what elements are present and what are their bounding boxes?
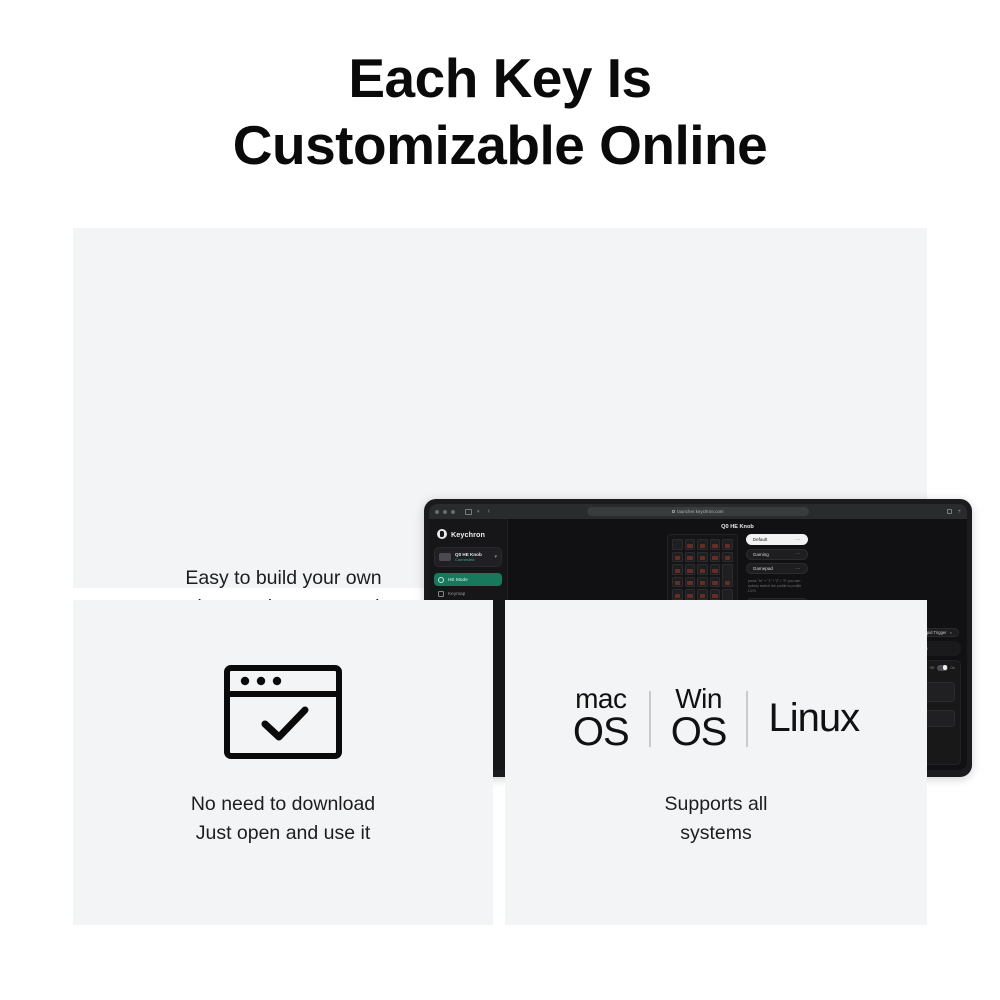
caption-line-1: Supports all [505, 790, 927, 818]
key[interactable] [697, 539, 708, 550]
key[interactable] [697, 577, 708, 588]
toggle-on-label: On [950, 666, 955, 670]
new-tab-icon[interactable]: + [957, 509, 961, 515]
key[interactable] [685, 539, 696, 550]
ellipsis-icon[interactable]: ⋯ [795, 537, 800, 543]
ellipsis-icon[interactable]: ⋯ [795, 551, 800, 557]
divider [649, 691, 651, 747]
key[interactable] [710, 589, 721, 600]
linux-text: Linux [768, 699, 859, 737]
key[interactable] [672, 564, 683, 575]
ellipsis-icon[interactable]: ⋯ [795, 566, 800, 572]
brand: Keychron [434, 527, 502, 547]
key[interactable] [685, 552, 696, 563]
key[interactable] [685, 577, 696, 588]
main-title: Q0 HE Knob [721, 524, 754, 530]
key[interactable] [697, 589, 708, 600]
test-keys-toggle[interactable]: Off On [929, 665, 955, 671]
linux-logo: Linux [768, 699, 859, 737]
close-dot[interactable] [435, 510, 439, 514]
winos-logo: Win OS [671, 686, 727, 751]
chevron-left-icon[interactable]: ‹ [488, 508, 490, 515]
no-download-caption: No need to download Just open and use it [73, 790, 493, 847]
headline-line-2: Customizable Online [0, 112, 1000, 179]
toggle-off-label: Off [929, 666, 934, 670]
key[interactable] [685, 564, 696, 575]
key[interactable] [722, 564, 733, 587]
caption-line-2: Just open and use it [73, 819, 493, 847]
toggle-switch[interactable] [937, 665, 948, 671]
close-icon[interactable]: × [950, 630, 952, 635]
profile-label: Default [753, 537, 768, 542]
marketing-page: Each Key Is Customizable Online Easy to … [0, 0, 1000, 1000]
key[interactable] [710, 564, 721, 575]
brand-name: Keychron [451, 530, 485, 539]
headline-line-1: Each Key Is [0, 45, 1000, 112]
url-text: launcher.keychron.com [677, 509, 723, 514]
chevron-down-icon[interactable]: ▾ [477, 509, 480, 515]
sidebar-item-label: Keymap [448, 591, 465, 596]
os-logo-row: mac OS Win OS Linux [505, 686, 927, 751]
macos-top-text: mac [575, 686, 626, 713]
os-support-caption: Supports all systems [505, 790, 927, 847]
key[interactable] [672, 539, 683, 550]
profile-default-button[interactable]: Default ⋯ [746, 534, 808, 545]
keychron-logo-icon [437, 529, 447, 539]
sidebar-item-keymap[interactable]: Keymap [434, 587, 502, 600]
key[interactable] [710, 552, 721, 563]
key[interactable] [672, 577, 683, 588]
os-support-panel: mac OS Win OS Linux Supports all systems [505, 600, 927, 925]
winos-top-text: Win [675, 686, 722, 713]
divider [746, 691, 748, 747]
profile-gaming-button[interactable]: Gaming ⋯ [746, 549, 808, 560]
macos-logo: mac OS [573, 686, 629, 751]
browser-window-check-icon [221, 662, 345, 767]
profile-label: Gaming [753, 552, 769, 557]
device-status: Connected [455, 557, 490, 562]
lock-icon [672, 510, 675, 513]
hero-panel: Easy to build your own shortcut, keymap,… [73, 228, 927, 588]
caption-line-1: No need to download [73, 790, 493, 818]
key[interactable] [672, 589, 683, 600]
key[interactable] [722, 552, 733, 563]
key[interactable] [697, 564, 708, 575]
key[interactable] [672, 552, 683, 563]
profile-label: Gamepad [753, 566, 773, 571]
caption-line-2: systems [505, 819, 927, 847]
browser-chrome: ▾ ‹ launcher.keychron.com + [429, 504, 967, 519]
page-title: Each Key Is Customizable Online [0, 45, 1000, 179]
chevron-down-icon[interactable]: ▾ [494, 554, 497, 560]
profile-gamepad-button[interactable]: Gamepad ⋯ [746, 563, 808, 574]
maximize-dot[interactable] [451, 510, 455, 514]
key[interactable] [697, 552, 708, 563]
device-text: Q0 HE Knob Connected [455, 552, 490, 563]
sidebar-item-label: HE Mode [448, 577, 468, 582]
macos-bottom-text: OS [573, 713, 629, 751]
key[interactable] [710, 539, 721, 550]
keyboard-thumbnail-icon [439, 553, 451, 561]
sidebar-toggle-icon[interactable] [465, 509, 472, 515]
chrome-right-controls: + [947, 509, 961, 515]
winos-bottom-text: OS [671, 713, 727, 751]
profile-hint: press "fn" + "1" / "2" / "3" you can qui… [746, 578, 808, 595]
device-selector[interactable]: Q0 HE Knob Connected ▾ [434, 547, 502, 567]
sidebar-item-he-mode[interactable]: HE Mode [434, 573, 502, 586]
key[interactable] [685, 589, 696, 600]
key[interactable] [722, 539, 733, 550]
keymap-icon [438, 591, 444, 597]
key[interactable] [710, 577, 721, 588]
he-mode-icon [438, 577, 444, 583]
share-icon[interactable] [947, 509, 952, 514]
minimize-dot[interactable] [443, 510, 447, 514]
url-bar[interactable]: launcher.keychron.com [587, 507, 809, 516]
no-download-panel: No need to download Just open and use it [73, 600, 493, 925]
